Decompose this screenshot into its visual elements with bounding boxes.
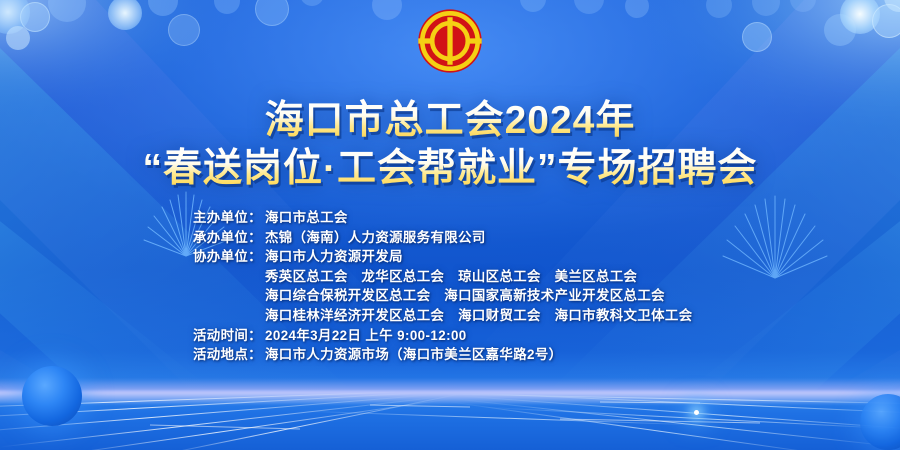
info-row-time: 活动时间： 2024年3月22日 上午 9:00-12:00	[193, 326, 900, 346]
coorganizer-list-item: 秀英区总工会 龙华区总工会 琼山区总工会 美兰区总工会	[193, 267, 900, 287]
horizon-glow	[0, 378, 900, 404]
emblem-container	[0, 8, 900, 74]
poster-titles: 海口市总工会2024年 “春送岗位·工会帮就业”专场招聘会	[0, 98, 900, 191]
info-row-coorganizer: 协办单位： 海口市人力资源开发局	[193, 247, 900, 267]
event-info-block: 主办单位： 海口市总工会 承办单位： 杰锦（海南）人力资源服务有限公司 协办单位…	[0, 208, 900, 365]
perspective-speed-lines	[0, 385, 900, 450]
title-line-1: 海口市总工会2024年	[0, 98, 900, 143]
organizer-label: 主办单位：	[193, 208, 265, 228]
coorganizer-list-line-3: 海口桂林洋经济开发区总工会 海口财贸工会 海口市教科文卫体工会	[265, 306, 693, 326]
coorganizer-list-line-2: 海口综合保税开发区总工会 海口国家高新技术产业开发区总工会	[265, 286, 665, 306]
coorganizer-value: 海口市人力资源开发局	[265, 247, 403, 267]
undertaker-value: 杰锦（海南）人力资源服务有限公司	[265, 228, 486, 248]
event-time-label: 活动时间：	[193, 326, 265, 346]
coorganizer-list-item: 海口桂林洋经济开发区总工会 海口财贸工会 海口市教科文卫体工会	[193, 306, 900, 326]
event-time-value: 2024年3月22日 上午 9:00-12:00	[265, 326, 467, 346]
glow-sphere-bottom-left	[22, 366, 82, 426]
info-row-organizer: 主办单位： 海口市总工会	[193, 208, 900, 228]
acftu-union-emblem-icon	[417, 8, 483, 74]
ground-plane	[0, 390, 900, 450]
undertaker-label: 承办单位：	[193, 228, 265, 248]
event-place-label: 活动地点：	[193, 345, 265, 365]
organizer-value: 海口市总工会	[265, 208, 348, 228]
info-row-place: 活动地点： 海口市人力资源市场（海口市美兰区嘉华路2号）	[193, 345, 900, 365]
coorganizer-list-line-1: 秀英区总工会 龙华区总工会 琼山区总工会 美兰区总工会	[265, 267, 637, 287]
event-place-value: 海口市人力资源市场（海口市美兰区嘉华路2号）	[265, 345, 562, 365]
glow-sphere-bottom-right	[860, 394, 900, 450]
light-spark	[694, 410, 699, 415]
title-line-2: “春送岗位·工会帮就业”专场招聘会	[0, 146, 900, 191]
recruitment-poster: 海口市总工会2024年 “春送岗位·工会帮就业”专场招聘会 主办单位： 海口市总…	[0, 0, 900, 450]
coorganizer-label: 协办单位：	[193, 247, 265, 267]
info-row-undertaker: 承办单位： 杰锦（海南）人力资源服务有限公司	[193, 228, 900, 248]
coorganizer-list-item: 海口综合保税开发区总工会 海口国家高新技术产业开发区总工会	[193, 286, 900, 306]
